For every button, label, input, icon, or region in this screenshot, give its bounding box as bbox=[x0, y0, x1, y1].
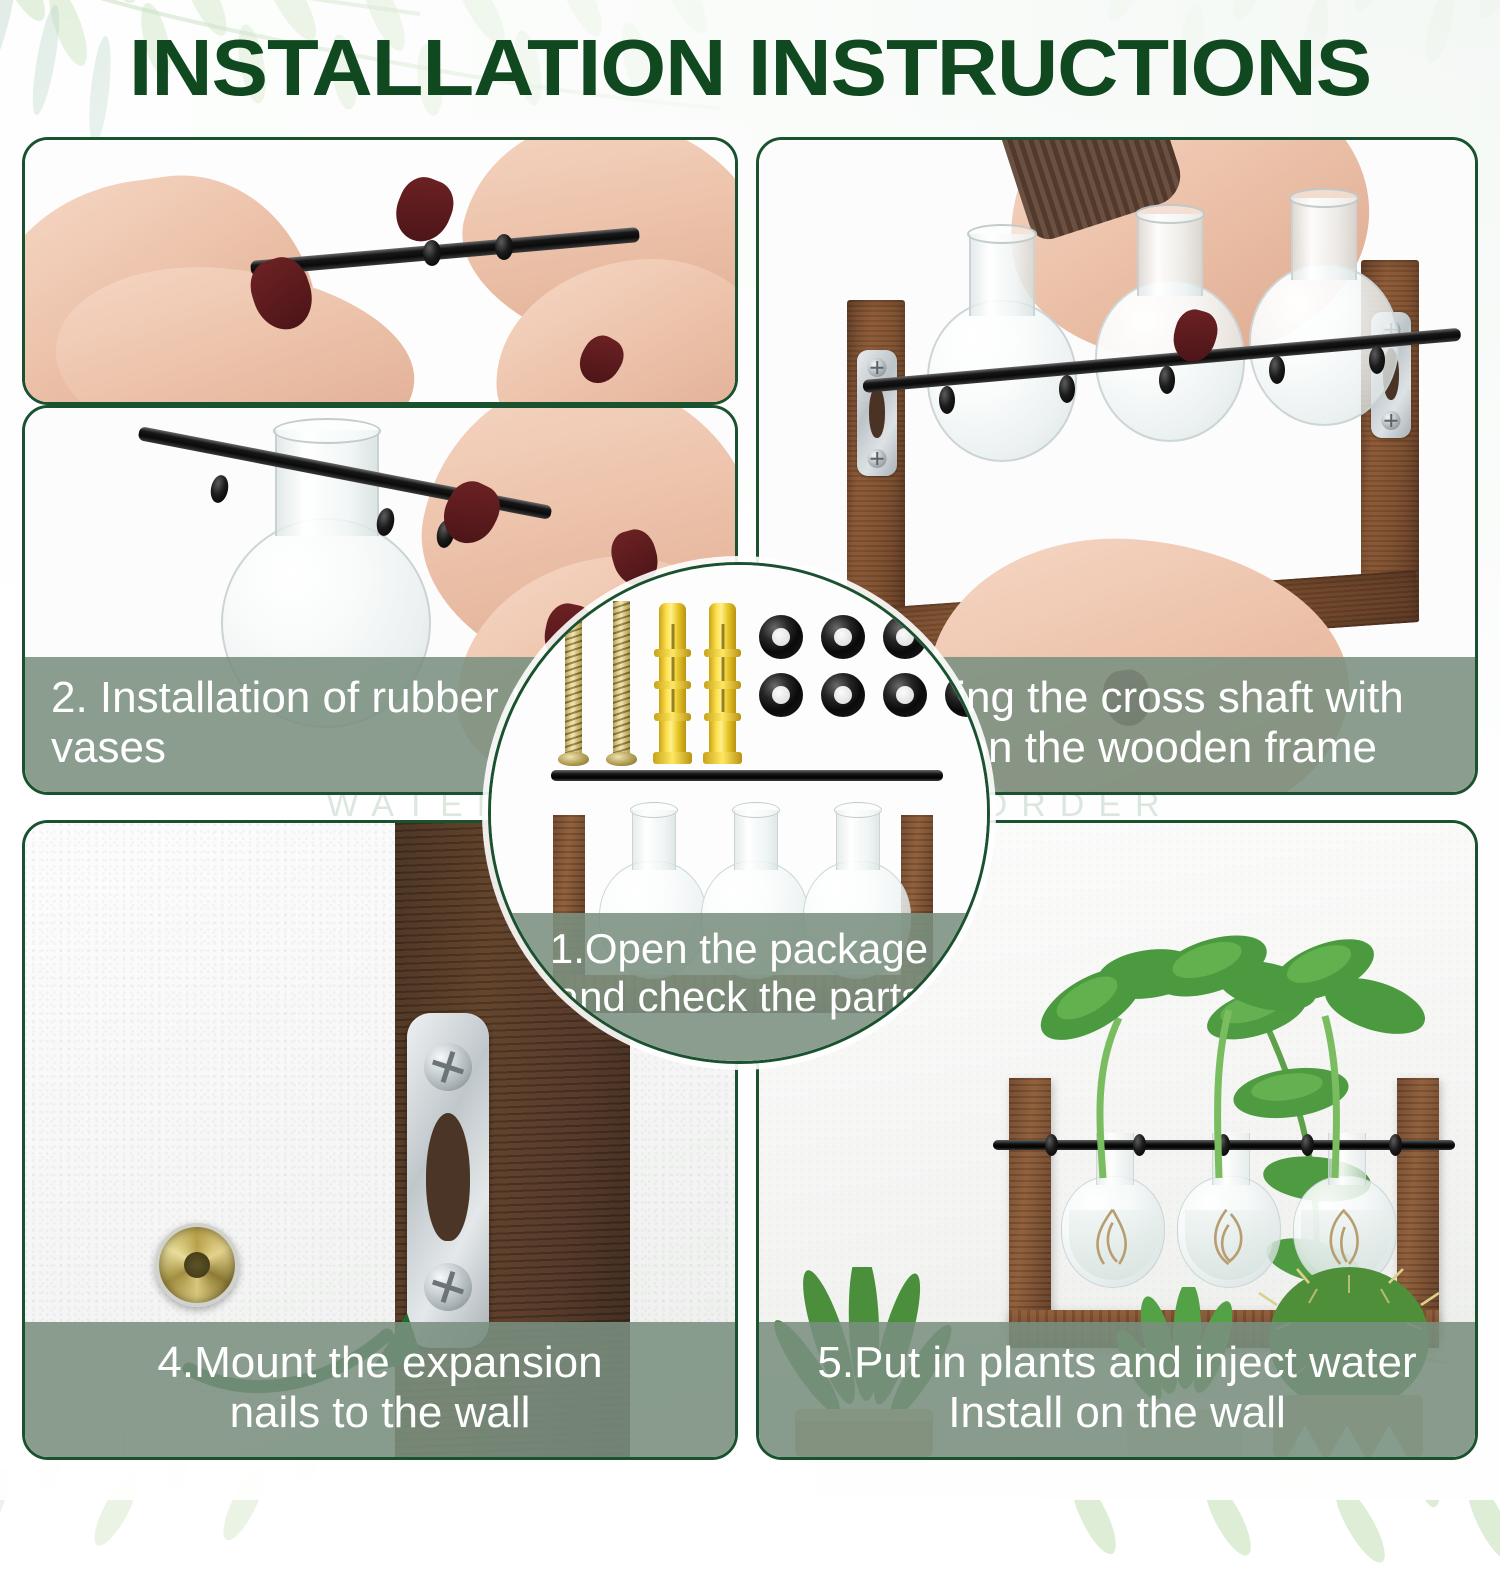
step-4-caption-line-2: nails to the wall bbox=[51, 1388, 709, 1437]
plant-roots bbox=[1196, 1206, 1261, 1274]
rubber-o-ring bbox=[495, 234, 513, 260]
rubber-o-ring bbox=[945, 673, 989, 717]
cross-shaft-rod bbox=[551, 770, 943, 781]
step-4-caption: 4.Mount the expansion nails to the wall bbox=[25, 1322, 735, 1457]
step-1-parts-circle: 1.Open the package and check the parts bbox=[488, 562, 990, 1064]
rubber-o-ring bbox=[759, 673, 803, 717]
rubber-o-ring bbox=[945, 615, 989, 659]
plant-roots bbox=[1312, 1206, 1377, 1274]
rubber-o-ring bbox=[821, 673, 865, 717]
step-1-rod-panel bbox=[22, 137, 738, 405]
rubber-o-ring bbox=[1369, 346, 1385, 374]
screw bbox=[565, 601, 582, 759]
rubber-o-ring bbox=[883, 615, 927, 659]
scene-hands-holding-rod bbox=[25, 140, 735, 402]
step-5-caption: 5.Put in plants and inject water Install… bbox=[759, 1322, 1475, 1457]
step-5-caption-line-2: Install on the wall bbox=[785, 1388, 1449, 1437]
rubber-o-ring bbox=[1159, 366, 1175, 394]
step-5-caption-line-1: 5.Put in plants and inject water bbox=[785, 1338, 1449, 1387]
pothos-cuttings bbox=[999, 878, 1449, 1198]
rubber-o-ring-group bbox=[759, 615, 989, 717]
rubber-o-ring bbox=[759, 615, 803, 659]
screw bbox=[613, 601, 630, 759]
wall-anchor bbox=[709, 603, 736, 755]
rubber-o-ring bbox=[821, 615, 865, 659]
rubber-o-ring bbox=[883, 673, 927, 717]
rubber-o-ring bbox=[423, 240, 441, 266]
rubber-o-ring bbox=[939, 386, 955, 414]
wall-anchor bbox=[659, 603, 686, 755]
plant-roots bbox=[1080, 1206, 1145, 1274]
step-4-caption-line-1: 4.Mount the expansion bbox=[51, 1338, 709, 1387]
step-1-caption: 1.Open the package and check the parts bbox=[491, 913, 987, 1061]
bracket-screw-top bbox=[424, 1043, 472, 1091]
vase-lip bbox=[273, 418, 381, 444]
keyhole-bracket-left bbox=[857, 350, 897, 476]
page-title: INSTALLATION INSTRUCTIONS bbox=[0, 22, 1500, 114]
rubber-o-ring bbox=[1269, 356, 1285, 384]
rubber-o-ring bbox=[1059, 375, 1075, 403]
